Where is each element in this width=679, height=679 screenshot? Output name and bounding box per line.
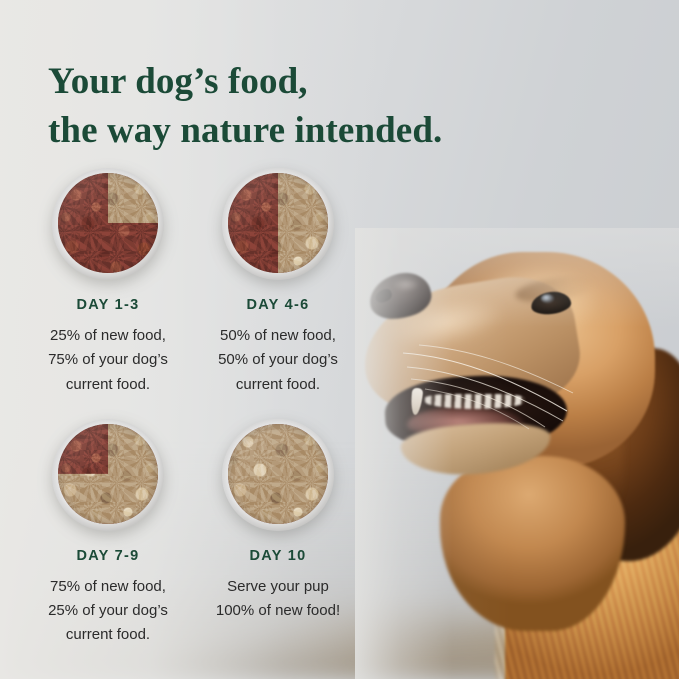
kibble-texture — [228, 424, 328, 524]
dog-food-bowl-icon — [52, 419, 164, 531]
dog-food-bowl-icon — [222, 168, 334, 280]
day-label: DAY 7-9 — [76, 548, 139, 564]
step-description: 25% of new food, 75% of your dog’s curre… — [48, 324, 168, 397]
kibble-texture — [228, 173, 328, 273]
page-title: Your dog’s food, the way nature intended… — [48, 58, 442, 156]
dog-food-bowl-icon — [222, 419, 334, 531]
day-label: DAY 10 — [250, 548, 307, 564]
step-description: Serve your pup 100% of new food! — [216, 575, 340, 624]
kibble-texture — [58, 424, 158, 524]
transition-step-day-10: DAY 10 Serve your pup 100% of new food! — [198, 419, 358, 648]
transition-step-day-7-9: DAY 7-9 75% of new food, 25% of your dog… — [28, 419, 188, 648]
bowl-contents — [228, 173, 328, 273]
bowl-contents — [58, 173, 158, 273]
transition-steps-grid: DAY 1-3 25% of new food, 75% of your dog… — [28, 168, 358, 648]
bowl-contents — [58, 424, 158, 524]
transition-step-day-4-6: DAY 4-6 50% of new food, 50% of your dog… — [198, 168, 358, 397]
step-description: 75% of new food, 25% of your dog’s curre… — [48, 575, 168, 648]
dog-food-bowl-icon — [52, 168, 164, 280]
step-description: 50% of new food, 50% of your dog’s curre… — [218, 324, 338, 397]
day-label: DAY 1-3 — [76, 297, 139, 313]
day-label: DAY 4-6 — [246, 297, 309, 313]
bowl-contents — [228, 424, 328, 524]
infographic-canvas: Your dog’s food, the way nature intended… — [0, 0, 679, 679]
transition-step-day-1-3: DAY 1-3 25% of new food, 75% of your dog… — [28, 168, 188, 397]
kibble-texture — [58, 173, 158, 273]
